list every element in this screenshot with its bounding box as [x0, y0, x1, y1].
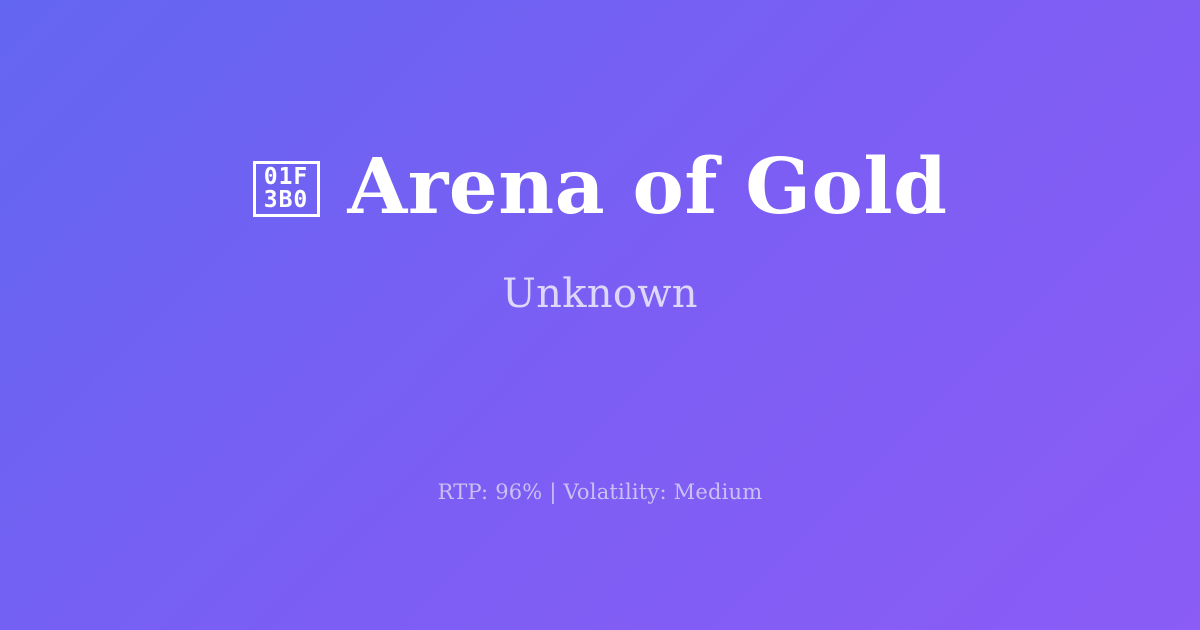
page-title: Arena of Gold: [348, 149, 948, 226]
page-subtitle: Unknown: [502, 274, 698, 314]
slot-machine-icon-codepoint-top: 01F: [264, 166, 309, 189]
game-meta-line: RTP: 96% | Volatility: Medium: [438, 482, 763, 503]
slot-machine-icon: 01F 3B0: [253, 161, 320, 217]
slot-machine-icon-codepoint-bottom: 3B0: [264, 189, 309, 212]
card-footer: RTP: 96% | Volatility: Medium: [0, 472, 1200, 630]
og-preview-card: 01F 3B0 Arena of Gold Unknown RTP: 96% |…: [0, 0, 1200, 630]
title-row: 01F 3B0 Arena of Gold: [253, 149, 948, 226]
card-hero: 01F 3B0 Arena of Gold Unknown: [0, 0, 1200, 472]
